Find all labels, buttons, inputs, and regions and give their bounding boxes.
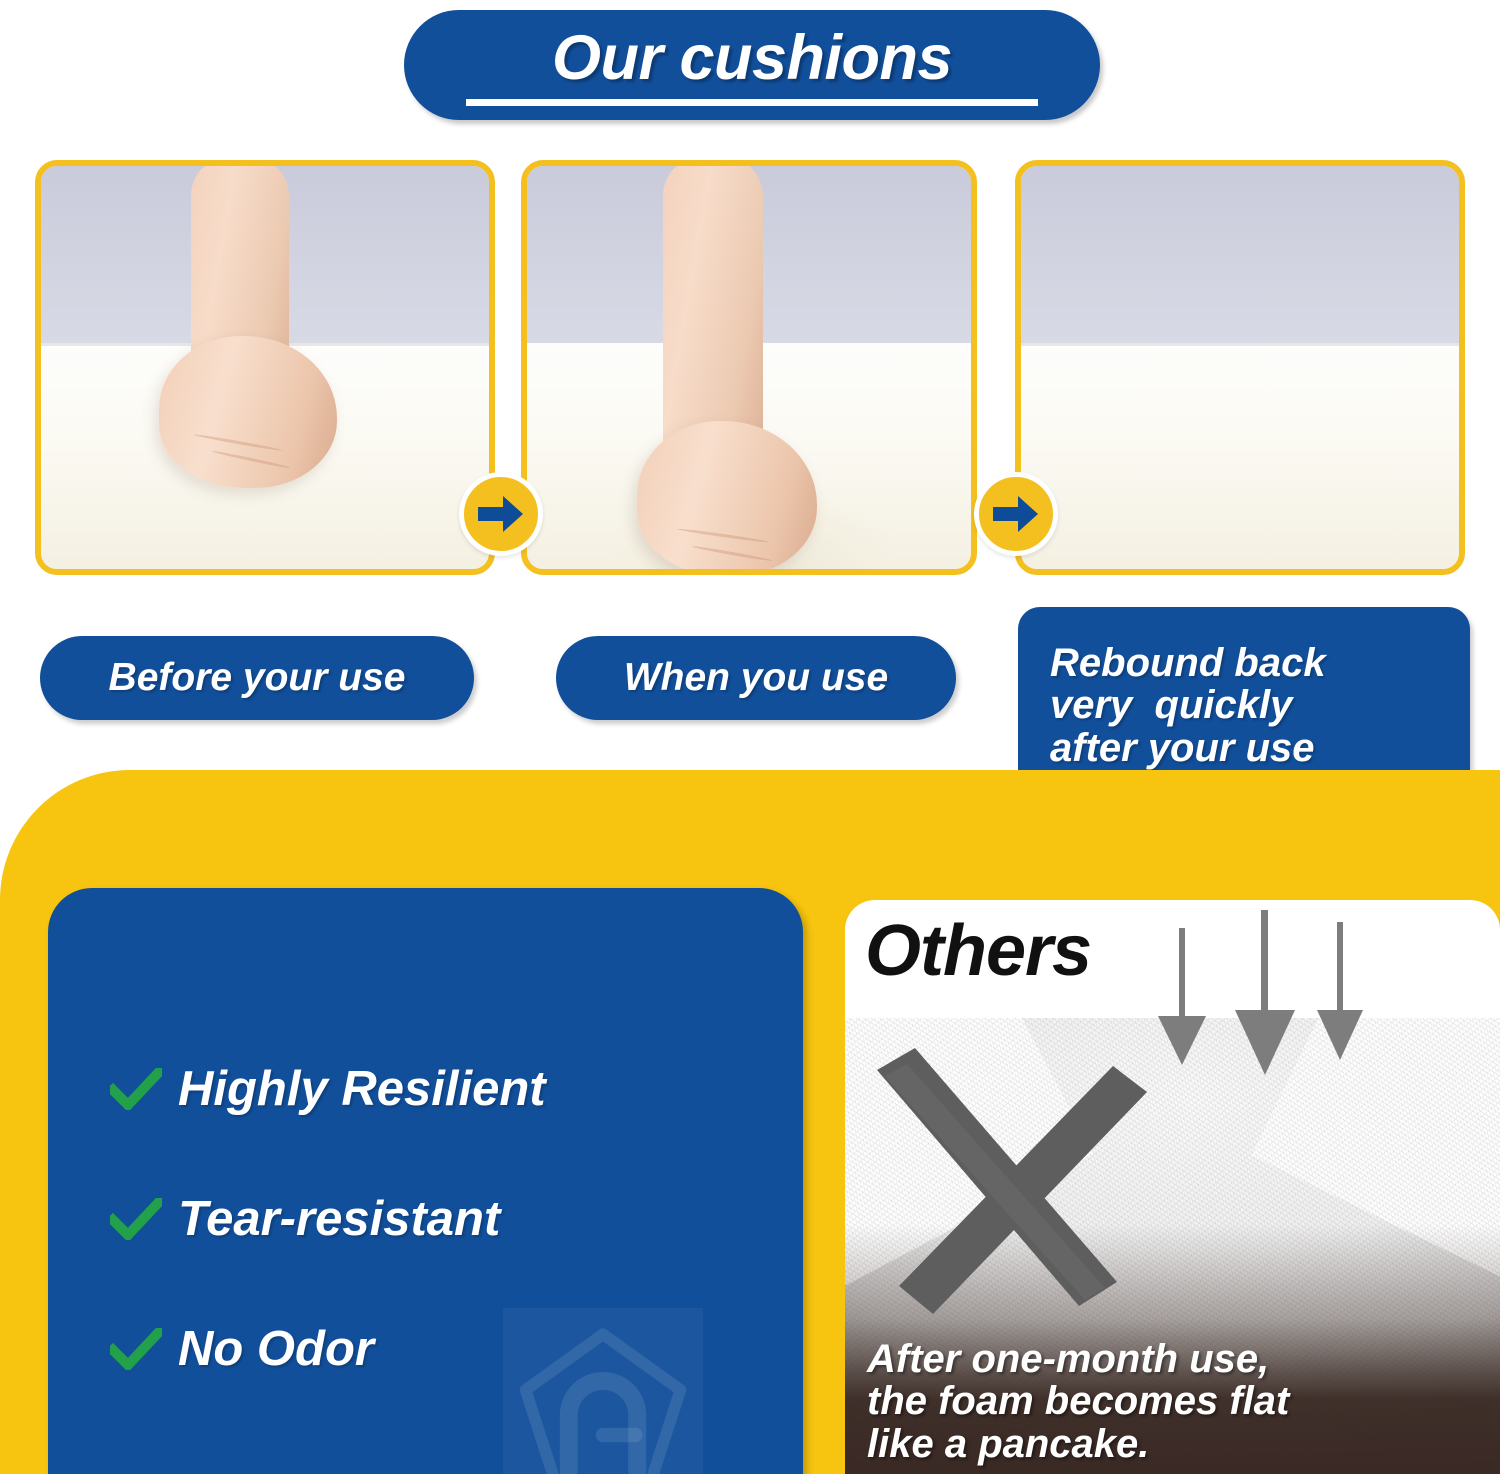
list-item: No Odor [108,1318,778,1380]
list-item: Highly Resilient [108,1058,778,1120]
others-caption-line-1: After one-month use, [867,1338,1289,1381]
section-title-badge: Our cushions [404,10,1100,120]
title-underline [466,99,1038,106]
others-caption: After one-month use, the foam becomes fl… [867,1338,1289,1466]
others-title: Others [865,910,1091,992]
demo-photo-before [35,160,495,575]
caption-line-3: after your use [1050,727,1315,769]
comparison-section: Highly Resilient Tear-resistant [0,770,1500,1474]
check-icon [108,1198,164,1240]
others-caption-line-3: like a pancake. [867,1423,1289,1466]
demo-photo-during [521,160,977,575]
caption-text: Before your use [109,656,406,700]
check-icon [108,1068,164,1110]
x-cross-icon [855,1030,1155,1335]
page-title: Our cushions [552,27,952,90]
caption-line-1: Rebound back [1050,642,1326,684]
check-icon [108,1328,164,1370]
demo-photo-row [0,160,1500,575]
product-infographic: Our cushions [0,0,1500,1474]
feature-label: No Odor [178,1321,374,1377]
caption-text: When you use [624,656,888,700]
list-item: Tear-resistant [108,1188,778,1250]
feature-label: Highly Resilient [178,1061,546,1117]
foam-slab [1021,343,1459,569]
right-arrow-icon [974,472,1058,556]
caption-line-2: very quickly [1050,684,1292,726]
our-cushions-section: Our cushions [0,0,1500,805]
others-caption-line-2: the foam becomes flat [867,1380,1289,1423]
photo-background-wall [1021,166,1459,355]
feature-label: Tear-resistant [178,1191,500,1247]
others-comparison-card: Others [845,900,1500,1474]
caption-before-your-use: Before your use [40,636,474,720]
feature-list: Highly Resilient Tear-resistant [108,1058,778,1448]
down-arrow-icon-group [1140,910,1390,1080]
right-arrow-icon [459,472,543,556]
our-features-panel: Highly Resilient Tear-resistant [48,888,803,1474]
demo-photo-after [1015,160,1465,575]
foam-top-edge [1021,343,1459,346]
caption-when-you-use: When you use [556,636,956,720]
